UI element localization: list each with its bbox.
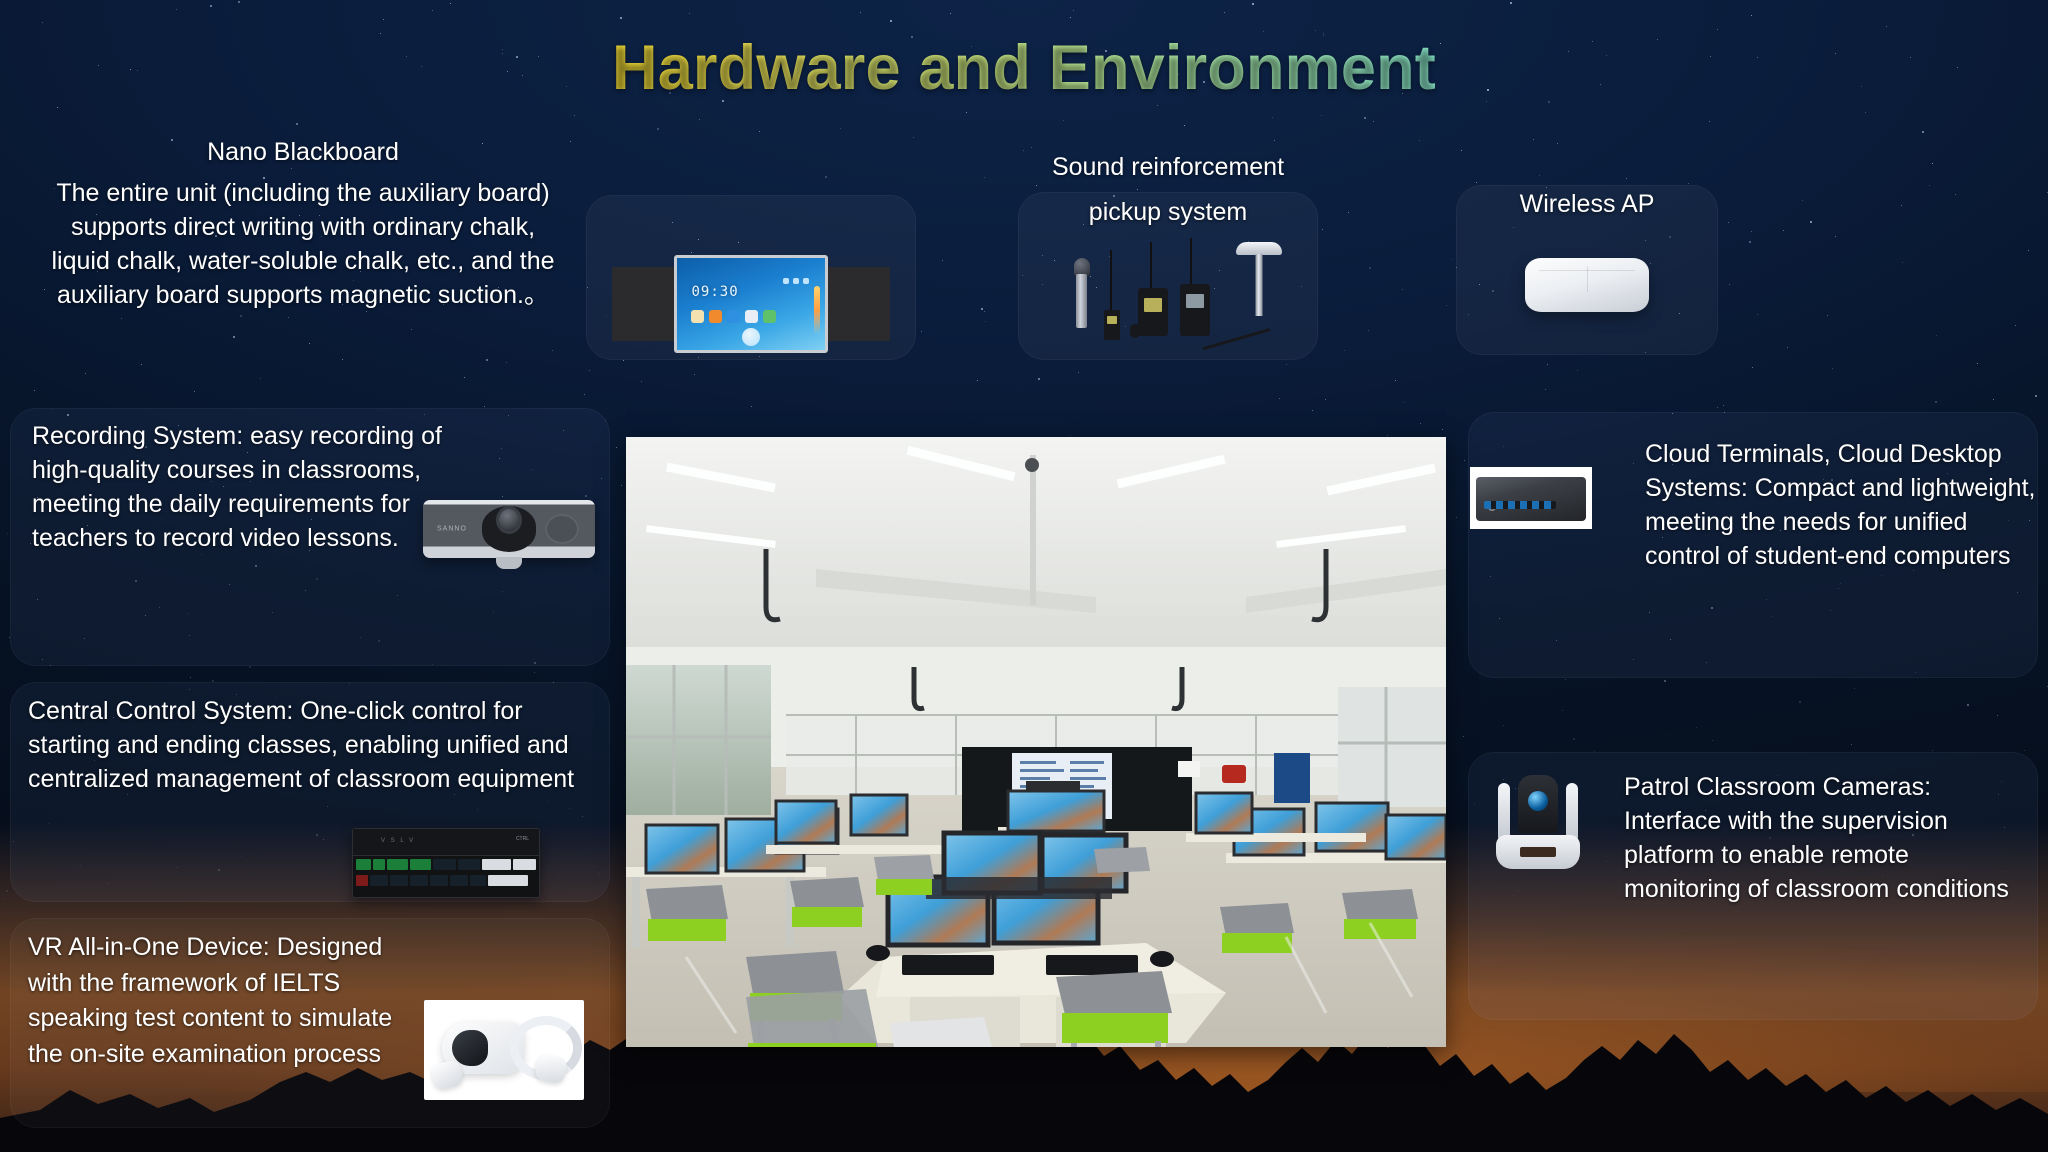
nano-blackboard-heading: Nano Blackboard <box>48 135 558 169</box>
classroom-photo <box>626 437 1446 1047</box>
patrol-camera-icon <box>1496 773 1580 869</box>
smart-blackboard-icon: 09:30 <box>612 255 890 353</box>
vr-device-body: VR All-in-One Device: Designed with the … <box>28 930 418 1072</box>
central-control-rack-icon: V S L VCTRL <box>352 828 540 898</box>
patrol-cameras-body: Patrol Classroom Cameras: Interface with… <box>1624 770 2032 906</box>
central-control-body: Central Control System: One-click contro… <box>28 694 588 796</box>
recording-system-body: Recording System: easy recording of high… <box>32 419 492 555</box>
wireless-microphone-set-icon <box>1060 236 1290 346</box>
slide-title: Hardware and Environment <box>0 32 2048 104</box>
nano-blackboard-body: The entire unit (including the auxiliary… <box>48 176 558 312</box>
cloud-terminals-body: Cloud Terminals, Cloud Desktop Systems: … <box>1645 437 2040 573</box>
vr-headset-icon <box>424 1000 584 1100</box>
slide-canvas: Hardware and Environment 09:30 Nano Blac… <box>0 0 2048 1152</box>
wireless-access-point-icon <box>1525 258 1649 312</box>
mini-pc-icon <box>1470 467 1592 529</box>
blackboard-clock-label: 09:30 <box>691 284 738 300</box>
sound-system-heading-line2: pickup system <box>968 195 1368 229</box>
wireless-ap-heading: Wireless AP <box>1456 187 1718 221</box>
sound-system-heading-line1: Sound reinforcement <box>968 150 1368 184</box>
